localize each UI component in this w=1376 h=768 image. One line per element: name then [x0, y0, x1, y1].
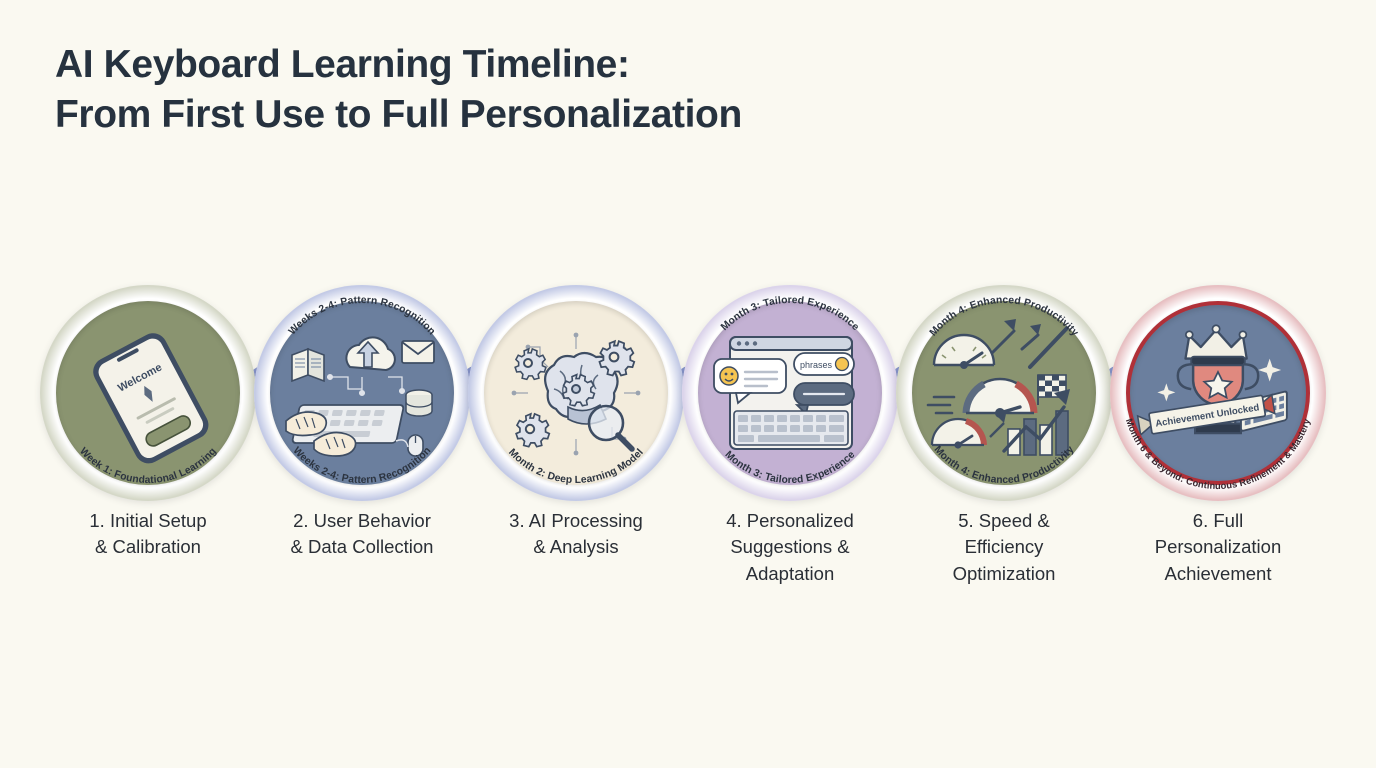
caption-2: 2. User Behavior & Data Collection [254, 508, 470, 561]
hands-typing-cloud-data-icon [270, 301, 454, 485]
caption-4-line-3: Adaptation [682, 561, 898, 587]
brain-gears-magnifier-icon [484, 301, 668, 485]
caption-1-line-2: & Calibration [40, 534, 256, 560]
timeline-node-3[interactable]: Month 2: Deep Learning Model [468, 285, 684, 501]
caption-3-line-1: 3. AI Processing [468, 508, 684, 534]
timeline-nodes: Welcome Week 1: Foundational Learning [0, 0, 1376, 768]
node-disc-3 [484, 301, 668, 485]
timeline-node-1[interactable]: Welcome Week 1: Foundational Learning [40, 285, 256, 501]
timeline-node-2[interactable]: Weeks 2-4: Pattern Recognition Weeks 2-4… [254, 285, 470, 501]
caption-4-line-2: Suggestions & [682, 534, 898, 560]
timeline-node-6[interactable]: Achievement Unlocked Month 6 & Beyond: C… [1110, 285, 1326, 501]
chat-suggestions-keyboard-icon: phrases [698, 301, 882, 485]
caption-6-line-3: Achievement [1110, 561, 1326, 587]
caption-6-line-2: Personalization [1110, 534, 1326, 560]
caption-5: 5. Speed & Efficiency Optimization [896, 508, 1112, 587]
timeline-node-5[interactable]: Month 4: Enhanced Productivity Month 4: … [896, 285, 1112, 501]
caption-4-line-1: 4. Personalized [682, 508, 898, 534]
caption-1-line-1: 1. Initial Setup [40, 508, 256, 534]
node-disc-2 [270, 301, 454, 485]
node-disc-6: Achievement Unlocked [1126, 301, 1310, 485]
caption-2-line-1: 2. User Behavior [254, 508, 470, 534]
caption-5-line-3: Optimization [896, 561, 1112, 587]
smartphone-welcome-icon: Welcome [56, 301, 240, 485]
caption-4: 4. Personalized Suggestions & Adaptation [682, 508, 898, 587]
node-disc-4: phrases [698, 301, 882, 485]
caption-6: 6. Full Personalization Achievement [1110, 508, 1326, 587]
infographic-canvas: AI Keyboard Learning Timeline: From Firs… [0, 0, 1376, 768]
caption-2-line-2: & Data Collection [254, 534, 470, 560]
speed-gauges-growth-chart-icon [912, 301, 1096, 485]
caption-1: 1. Initial Setup & Calibration [40, 508, 256, 561]
caption-5-line-2: Efficiency [896, 534, 1112, 560]
svg-text:phrases: phrases [800, 360, 833, 370]
trophy-achievement-icon: Achievement Unlocked [1130, 305, 1306, 481]
caption-5-line-1: 5. Speed & [896, 508, 1112, 534]
caption-6-line-1: 6. Full [1110, 508, 1326, 534]
caption-3: 3. AI Processing & Analysis [468, 508, 684, 561]
node-disc-5 [912, 301, 1096, 485]
timeline-node-4[interactable]: phrases [682, 285, 898, 501]
node-disc-1: Welcome [56, 301, 240, 485]
caption-3-line-2: & Analysis [468, 534, 684, 560]
